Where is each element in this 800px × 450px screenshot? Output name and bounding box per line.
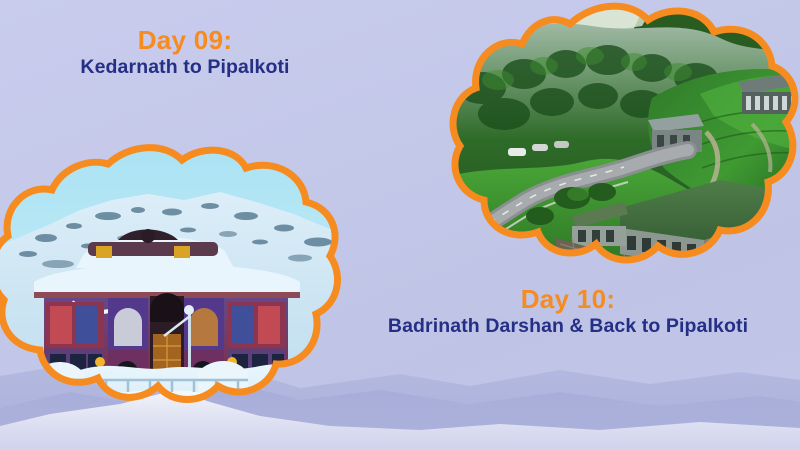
day-09-label: Day 09: [20, 26, 350, 55]
kedarnath-temple-snow-photo [0, 146, 344, 408]
slide-canvas: Day 09: Kedarnath to Pipalkoti Day 10: B… [0, 0, 800, 450]
day-10-route-label: Badrinath Darshan & Back to Pipalkoti [348, 316, 788, 338]
caption-day-09: Day 09: Kedarnath to Pipalkoti [20, 26, 350, 79]
day-09-route-label: Kedarnath to Pipalkoti [20, 57, 350, 79]
day-10-label: Day 10: [348, 285, 788, 314]
caption-day-10: Day 10: Badrinath Darshan & Back to Pipa… [348, 285, 788, 338]
pipalkoti-valley-photo [452, 2, 800, 294]
